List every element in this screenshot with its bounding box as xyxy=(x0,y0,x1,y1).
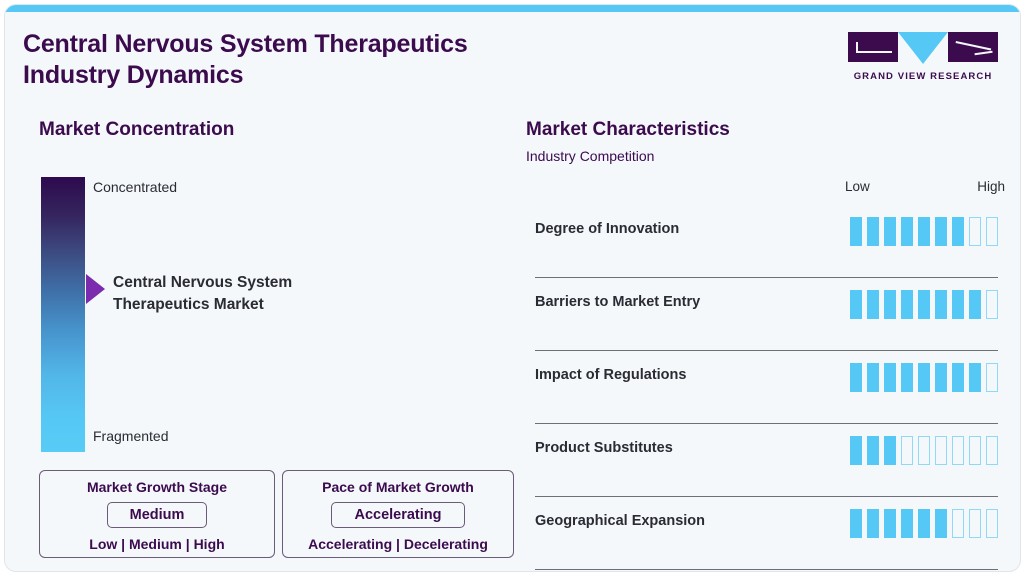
market-growth-stage-box: Market Growth Stage Medium Low | Medium … xyxy=(39,470,275,558)
rating-tick-filled xyxy=(935,509,947,538)
rating-tick-empty xyxy=(969,436,981,465)
top-accent-bar xyxy=(5,5,1020,12)
rating-tick-empty xyxy=(952,509,964,538)
rating-tick-filled xyxy=(850,290,862,319)
scale-low-label: Low xyxy=(845,179,870,194)
characteristic-row: Barriers to Market Entry xyxy=(535,278,998,351)
rating-tick-filled xyxy=(867,217,879,246)
market-characteristics-heading: Market Characteristics xyxy=(526,119,730,141)
gradient-bottom-label: Fragmented xyxy=(93,428,168,444)
rating-tick-filled xyxy=(884,363,896,392)
characteristic-rating-bars xyxy=(850,290,998,319)
rating-tick-filled xyxy=(918,363,930,392)
characteristic-label: Geographical Expansion xyxy=(535,513,705,529)
rating-tick-filled xyxy=(867,290,879,319)
pace-of-market-growth-title: Pace of Market Growth xyxy=(283,479,513,495)
rating-tick-filled xyxy=(935,363,947,392)
market-position-marker-icon xyxy=(86,274,105,304)
characteristic-rating-bars xyxy=(850,509,998,538)
rating-tick-filled xyxy=(867,363,879,392)
rating-tick-filled xyxy=(901,217,913,246)
page-title: Central Nervous System Therapeutics Indu… xyxy=(23,29,643,90)
characteristic-rating-bars xyxy=(850,363,998,392)
logo-triangle-icon xyxy=(898,32,948,64)
rating-tick-filled xyxy=(850,363,862,392)
characteristics-rows: Degree of InnovationBarriers to Market E… xyxy=(535,205,998,570)
rating-tick-filled xyxy=(867,509,879,538)
characteristic-label: Barriers to Market Entry xyxy=(535,294,700,310)
pace-of-market-growth-value: Accelerating xyxy=(331,502,464,528)
rating-tick-empty xyxy=(901,436,913,465)
rating-tick-empty xyxy=(986,363,998,392)
market-concentration-heading: Market Concentration xyxy=(39,119,234,141)
characteristic-label: Impact of Regulations xyxy=(535,367,686,383)
market-position-label-line1: Central Nervous System xyxy=(113,274,292,291)
rating-tick-empty xyxy=(969,509,981,538)
logo-block-left-icon xyxy=(848,32,898,62)
scale-labels: Low High xyxy=(845,179,1005,194)
market-position-label: Central Nervous System Therapeutics Mark… xyxy=(113,272,343,316)
rating-tick-filled xyxy=(850,436,862,465)
rating-tick-filled xyxy=(918,509,930,538)
characteristic-row: Degree of Innovation xyxy=(535,205,998,278)
rating-tick-filled xyxy=(884,290,896,319)
rating-tick-filled xyxy=(867,436,879,465)
rating-tick-empty xyxy=(986,217,998,246)
rating-tick-filled xyxy=(901,509,913,538)
logo-block-right-icon xyxy=(948,32,998,62)
page-title-line2: Industry Dynamics xyxy=(23,60,643,91)
rating-tick-filled xyxy=(850,217,862,246)
rating-tick-filled xyxy=(918,217,930,246)
market-position-label-line2: Therapeutics Market xyxy=(113,296,264,313)
rating-tick-empty xyxy=(969,217,981,246)
rating-tick-empty xyxy=(952,436,964,465)
gradient-top-label: Concentrated xyxy=(93,179,177,195)
characteristic-row: Geographical Expansion xyxy=(535,497,998,570)
pace-of-market-growth-options: Accelerating | Decelerating xyxy=(283,536,513,552)
characteristic-row: Product Substitutes xyxy=(535,424,998,497)
rating-tick-filled xyxy=(918,290,930,319)
rating-tick-empty xyxy=(986,290,998,319)
rating-tick-filled xyxy=(969,290,981,319)
rating-tick-filled xyxy=(952,363,964,392)
market-growth-stage-title: Market Growth Stage xyxy=(40,479,274,495)
market-growth-stage-options: Low | Medium | High xyxy=(40,536,274,552)
rating-tick-filled xyxy=(884,509,896,538)
grand-view-research-logo: GRAND VIEW RESEARCH xyxy=(848,32,998,82)
market-characteristics-subheading: Industry Competition xyxy=(526,148,654,164)
rating-tick-filled xyxy=(901,363,913,392)
rating-tick-filled xyxy=(969,363,981,392)
rating-tick-empty xyxy=(918,436,930,465)
characteristic-label: Product Substitutes xyxy=(535,440,673,456)
rating-tick-filled xyxy=(935,217,947,246)
rating-tick-filled xyxy=(935,290,947,319)
rating-tick-filled xyxy=(952,217,964,246)
scale-high-label: High xyxy=(977,179,1005,194)
rating-tick-filled xyxy=(901,290,913,319)
page-title-line1: Central Nervous System Therapeutics xyxy=(23,30,468,58)
rating-tick-filled xyxy=(884,436,896,465)
rating-tick-empty xyxy=(986,436,998,465)
characteristic-rating-bars xyxy=(850,217,998,246)
characteristic-row: Impact of Regulations xyxy=(535,351,998,424)
logo-text: GRAND VIEW RESEARCH xyxy=(848,71,998,82)
characteristic-rating-bars xyxy=(850,436,998,465)
pace-of-market-growth-box: Pace of Market Growth Accelerating Accel… xyxy=(282,470,514,558)
infographic-card: Central Nervous System Therapeutics Indu… xyxy=(4,4,1021,572)
market-growth-stage-value: Medium xyxy=(107,502,208,528)
rating-tick-filled xyxy=(884,217,896,246)
concentration-gradient-bar xyxy=(41,177,85,452)
rating-tick-empty xyxy=(935,436,947,465)
characteristic-label: Degree of Innovation xyxy=(535,221,679,237)
rating-tick-filled xyxy=(850,509,862,538)
rating-tick-empty xyxy=(986,509,998,538)
rating-tick-filled xyxy=(952,290,964,319)
logo-marks xyxy=(848,32,998,66)
